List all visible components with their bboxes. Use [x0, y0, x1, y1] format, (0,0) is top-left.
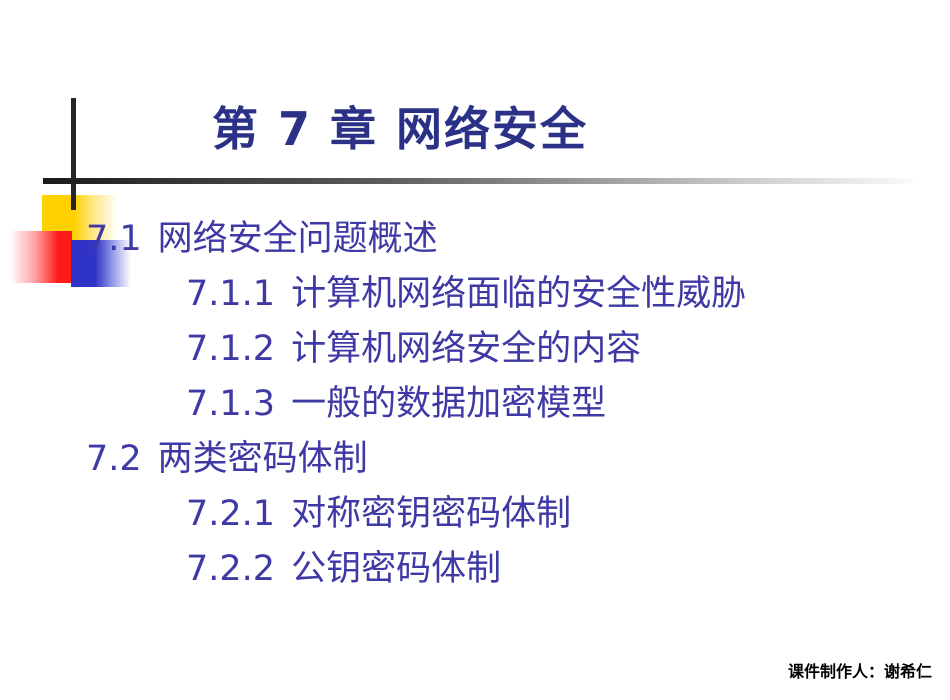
outline-item-7-2-2: 7.2.2公钥密码体制	[0, 542, 950, 597]
footer-credit: 课件制作人：谢希仁	[788, 658, 932, 682]
outline-item-7-2-1: 7.2.1对称密钥密码体制	[0, 487, 950, 542]
vertical-rule-icon	[71, 98, 76, 210]
outline-item-7-2: 7.2两类密码体制	[0, 432, 950, 487]
outline-label: 两类密码体制	[158, 439, 368, 479]
outline-number: 7.1.3	[186, 377, 275, 432]
outline-label: 网络安全问题概述	[158, 219, 438, 259]
outline-number: 7.1.2	[186, 322, 275, 377]
outline-number: 7.2.2	[186, 542, 275, 597]
outline-number: 7.2	[86, 432, 142, 487]
outline-number: 7.1.1	[186, 267, 275, 322]
outline-label: 对称密钥密码体制	[291, 494, 571, 534]
horizontal-rule-icon	[43, 178, 923, 184]
outline-label: 一般的数据加密模型	[291, 384, 606, 424]
outline-item-7-1-3: 7.1.3一般的数据加密模型	[0, 377, 950, 432]
outline-item-7-1: 7.1网络安全问题概述	[0, 212, 950, 267]
outline-label: 计算机网络安全的内容	[291, 329, 641, 369]
outline-item-7-1-1: 7.1.1计算机网络面临的安全性威胁	[0, 267, 950, 322]
slide-title: 第 7 章 网络安全	[212, 101, 588, 157]
outline-number: 7.1	[86, 212, 142, 267]
outline-item-7-1-2: 7.1.2计算机网络安全的内容	[0, 322, 950, 377]
decorative-logo	[0, 85, 180, 210]
outline-label: 公钥密码体制	[291, 549, 501, 589]
outline-number: 7.2.1	[186, 487, 275, 542]
slide-canvas: 第 7 章 网络安全 7.1网络安全问题概述 7.1.1计算机网络面临的安全性威…	[0, 0, 950, 700]
outline-label: 计算机网络面临的安全性威胁	[291, 274, 746, 314]
outline-list: 7.1网络安全问题概述 7.1.1计算机网络面临的安全性威胁 7.1.2计算机网…	[0, 212, 950, 597]
